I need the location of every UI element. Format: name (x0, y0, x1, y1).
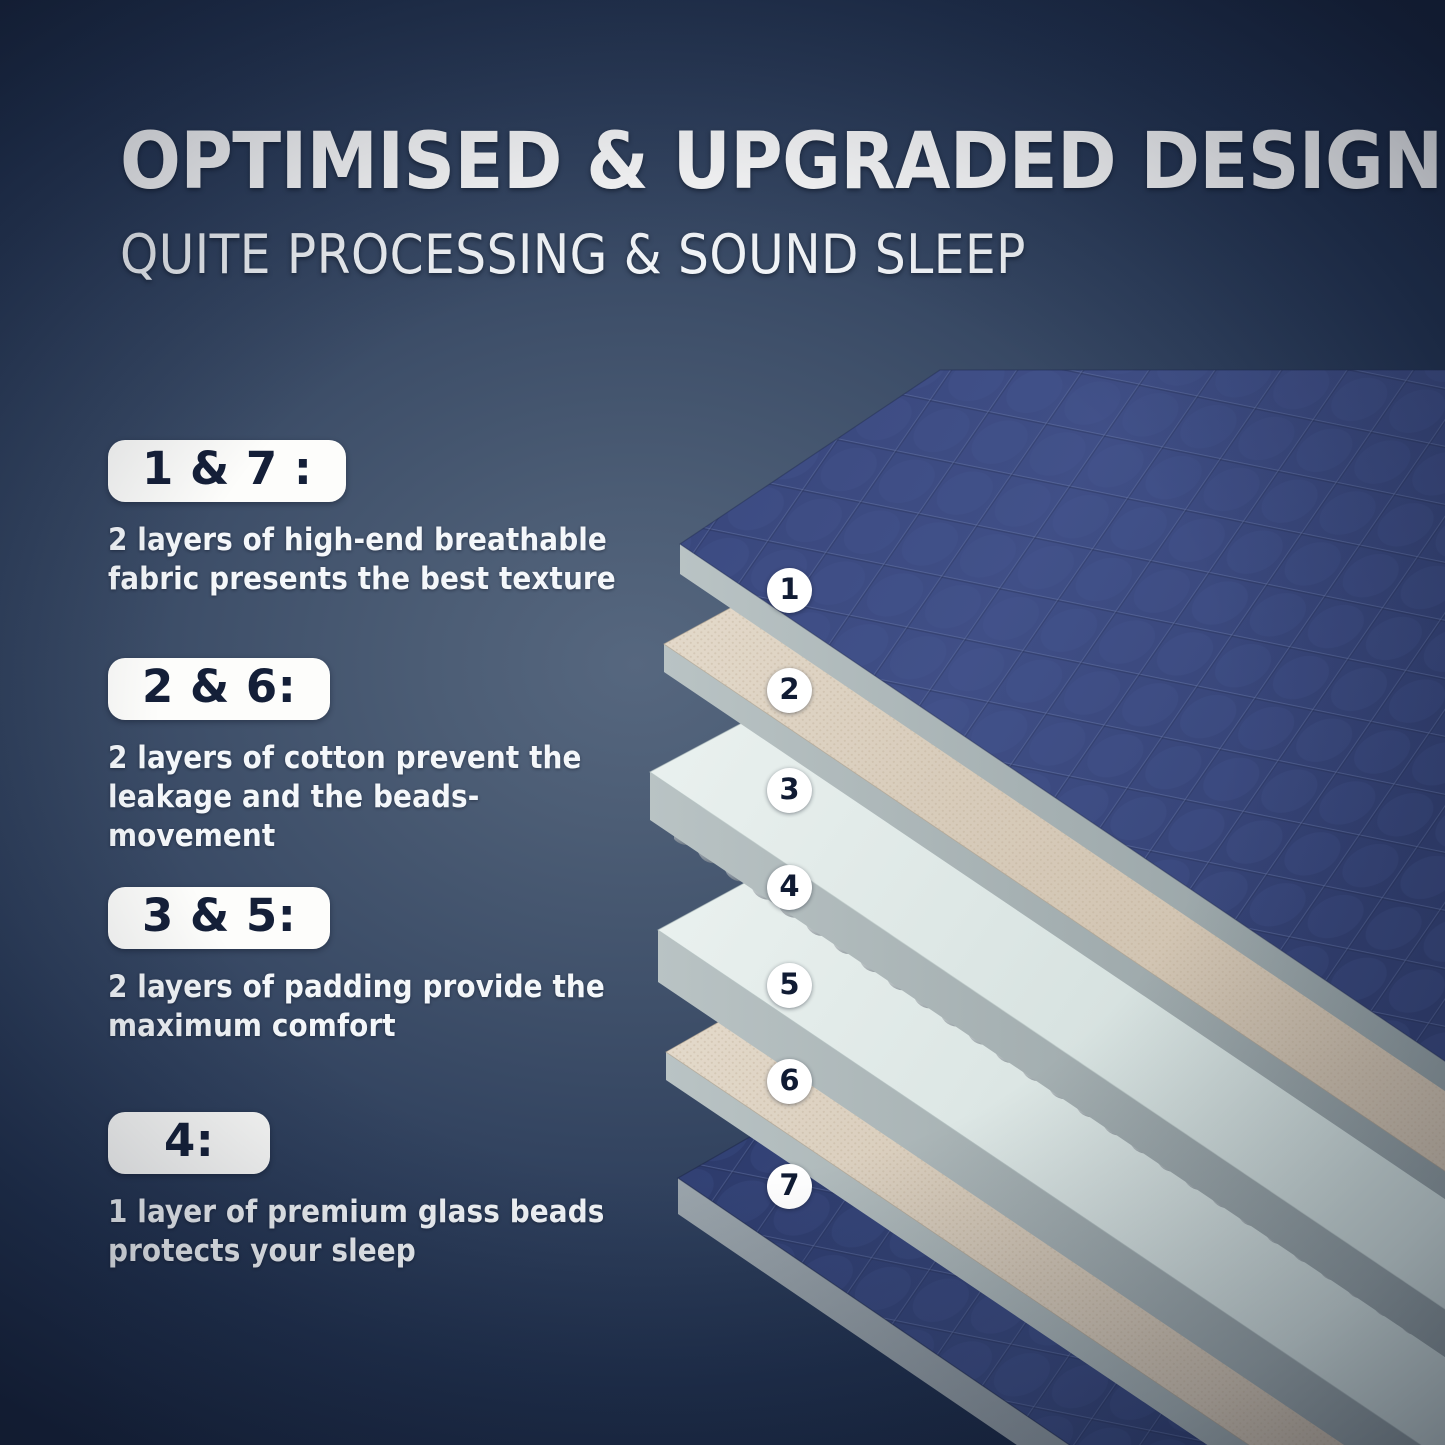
feature-description: 2 layers of padding provide the maximum … (108, 968, 618, 1046)
feature-item-3-and-5: 3 & 5: 2 layers of padding provide the m… (108, 887, 638, 1046)
feature-label-text: 4: (164, 1118, 214, 1165)
feature-description: 2 layers of high-end breathable fabric p… (108, 521, 618, 599)
page-title: OPTIMISED & UPGRADED DESIGN (120, 124, 1375, 200)
exploded-layer-diagram: 1 2 3 4 5 6 7 (640, 340, 1445, 1445)
layer-badge-4: 4 (767, 865, 812, 910)
feature-description: 1 layer of premium glass beads protects … (108, 1193, 618, 1271)
feature-item-4: 4: 1 layer of premium glass beads protec… (108, 1112, 638, 1271)
feature-label-pill-1-and-7: 1 & 7 : (108, 440, 346, 502)
layer-badge-3: 3 (767, 768, 812, 813)
feature-label-text: 2 & 6: (142, 664, 296, 711)
header-block: OPTIMISED & UPGRADED DESIGN QUITE PROCES… (120, 124, 1350, 282)
feature-label-pill-4: 4: (108, 1112, 270, 1174)
product-infographic: OPTIMISED & UPGRADED DESIGN QUITE PROCES… (0, 0, 1445, 1445)
feature-label-text: 1 & 7 : (142, 446, 312, 493)
feature-item-2-and-6: 2 & 6: 2 layers of cotton prevent the le… (108, 658, 638, 856)
layer-badge-6: 6 (767, 1059, 812, 1104)
feature-item-1-and-7: 1 & 7 : 2 layers of high-end breathable … (108, 440, 638, 599)
layer-badge-7: 7 (767, 1164, 812, 1209)
layer-badge-1: 1 (767, 568, 812, 613)
feature-description: 2 layers of cotton prevent the leakage a… (108, 739, 618, 856)
layer-badge-2: 2 (767, 668, 812, 713)
feature-label-pill-2-and-6: 2 & 6: (108, 658, 330, 720)
feature-label-pill-3-and-5: 3 & 5: (108, 887, 330, 949)
layer-badge-5: 5 (767, 963, 812, 1008)
page-subtitle: QUITE PROCESSING & SOUND SLEEP (120, 228, 1350, 282)
feature-label-text: 3 & 5: (142, 893, 296, 940)
